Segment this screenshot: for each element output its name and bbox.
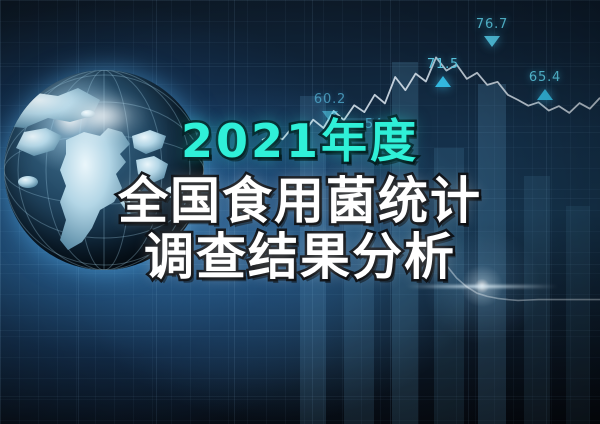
- banner-image: 60.254.871.576.765.4: [0, 0, 600, 424]
- title-line-3: 调查结果分析: [0, 232, 600, 282]
- title-line-1: 2021年度: [0, 118, 600, 164]
- title-block: 2021年度 全国食用菌统计 调查结果分析: [0, 118, 600, 282]
- title-line-2: 全国食用菌统计: [0, 176, 600, 226]
